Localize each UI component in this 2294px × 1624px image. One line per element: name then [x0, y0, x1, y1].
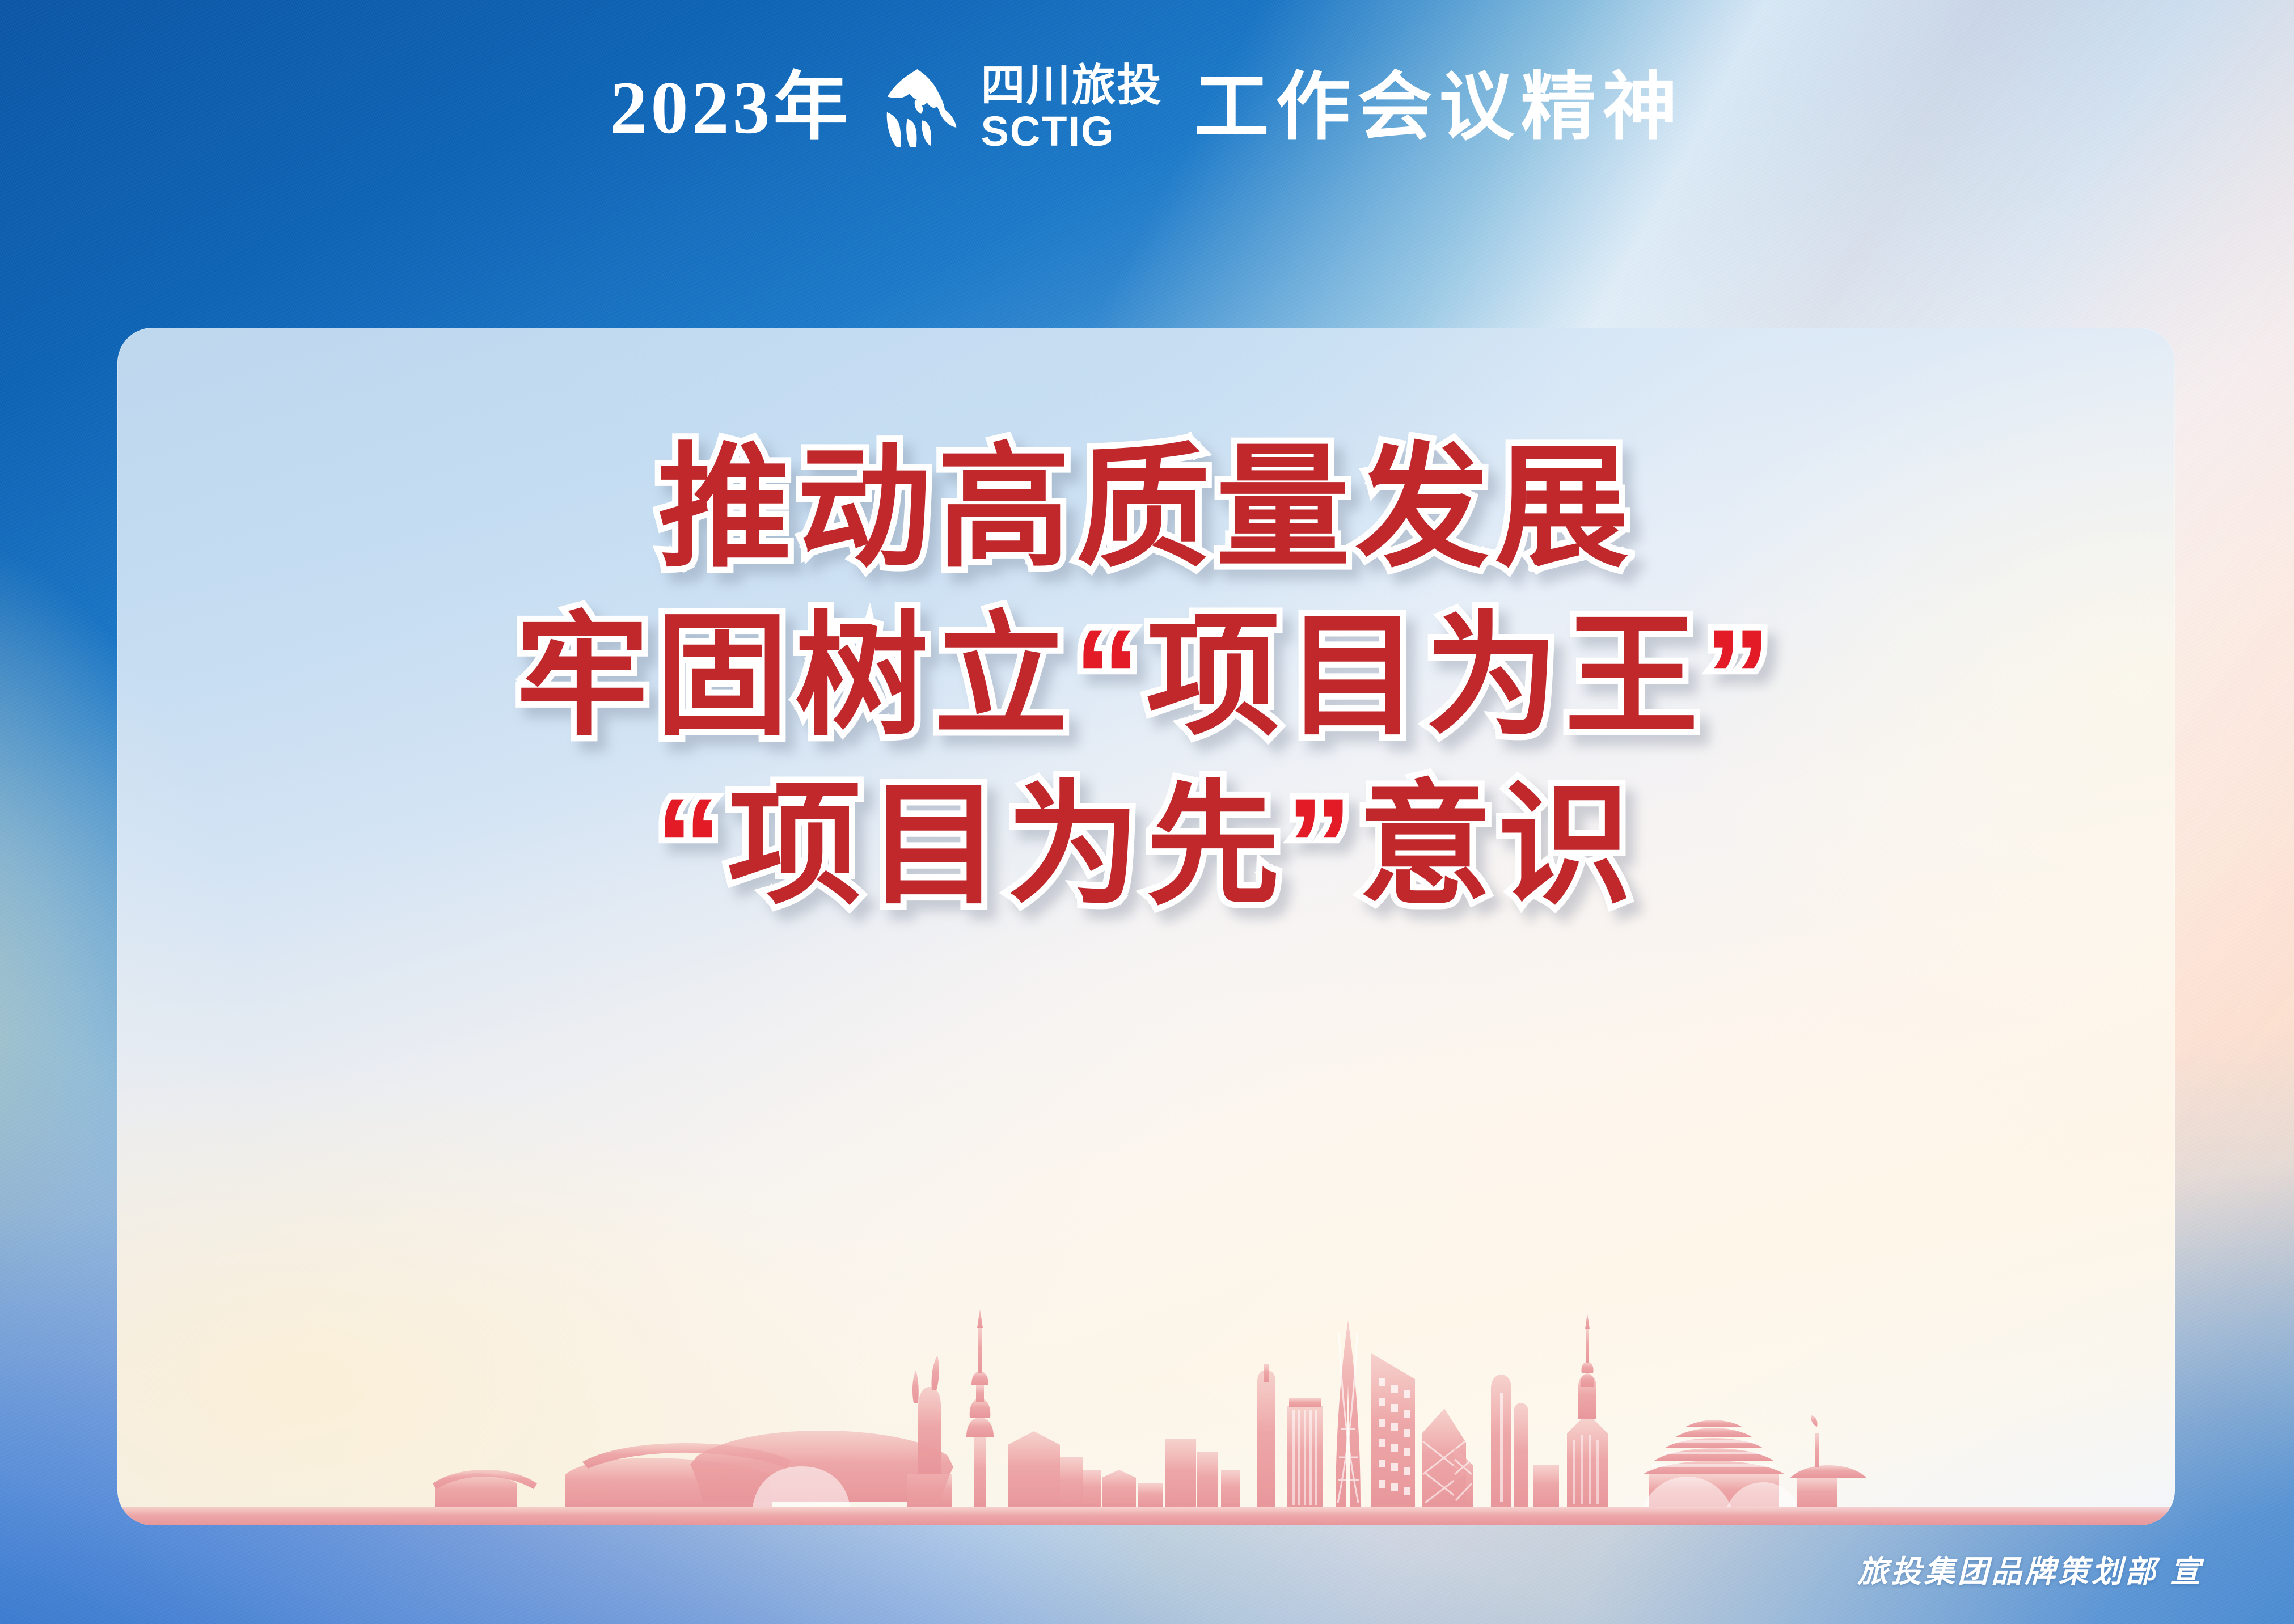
headline-line-1: 推动高质量发展	[117, 424, 2175, 593]
footer-credit: 旅投集团品牌策划部 宣	[1857, 1546, 2203, 1591]
quote-close-2: ”	[1286, 771, 1358, 920]
quote-close-1: ”	[1704, 602, 1777, 751]
headline-line-3-suffix: 意识	[1358, 771, 1637, 920]
sctig-logo: 四川旅投 SCTIG	[883, 63, 1162, 153]
panda-globe-mark	[883, 68, 966, 147]
headline-block: 推动高质量发展 牢固树立“项目为王” “项目为先”意识	[117, 424, 2175, 930]
headline-line-3: “项目为先”意识	[117, 762, 2175, 930]
header-suffix-label: 工作会议精神	[1194, 70, 1684, 145]
content-card: 推动高质量发展 牢固树立“项目为王” “项目为先”意识	[117, 328, 2175, 1525]
headline-line-2-quoted: 项目为王	[1146, 602, 1704, 751]
headline-line-2-prefix: 牢固树立	[516, 602, 1074, 751]
poster-canvas: 2023年 四川旅投 SCTIG 工作会议精神	[0, 0, 2294, 1624]
quote-open-2: “	[655, 771, 728, 920]
logo-name-en: SCTIG	[981, 111, 1162, 153]
header-year-label: 2023年	[610, 70, 851, 145]
footer-credit-text: 旅投集团品牌策划部 宣	[1857, 1555, 2203, 1589]
header-bar: 2023年 四川旅投 SCTIG 工作会议精神	[0, 0, 2294, 215]
headline-line-2: 牢固树立“项目为王”	[117, 593, 2175, 761]
quote-open-1: “	[1074, 602, 1146, 751]
logo-name-cn: 四川旅投	[981, 63, 1162, 107]
headline-line-3-quoted: 项目为先	[728, 771, 1286, 920]
logo-wordmark: 四川旅投 SCTIG	[981, 63, 1162, 153]
